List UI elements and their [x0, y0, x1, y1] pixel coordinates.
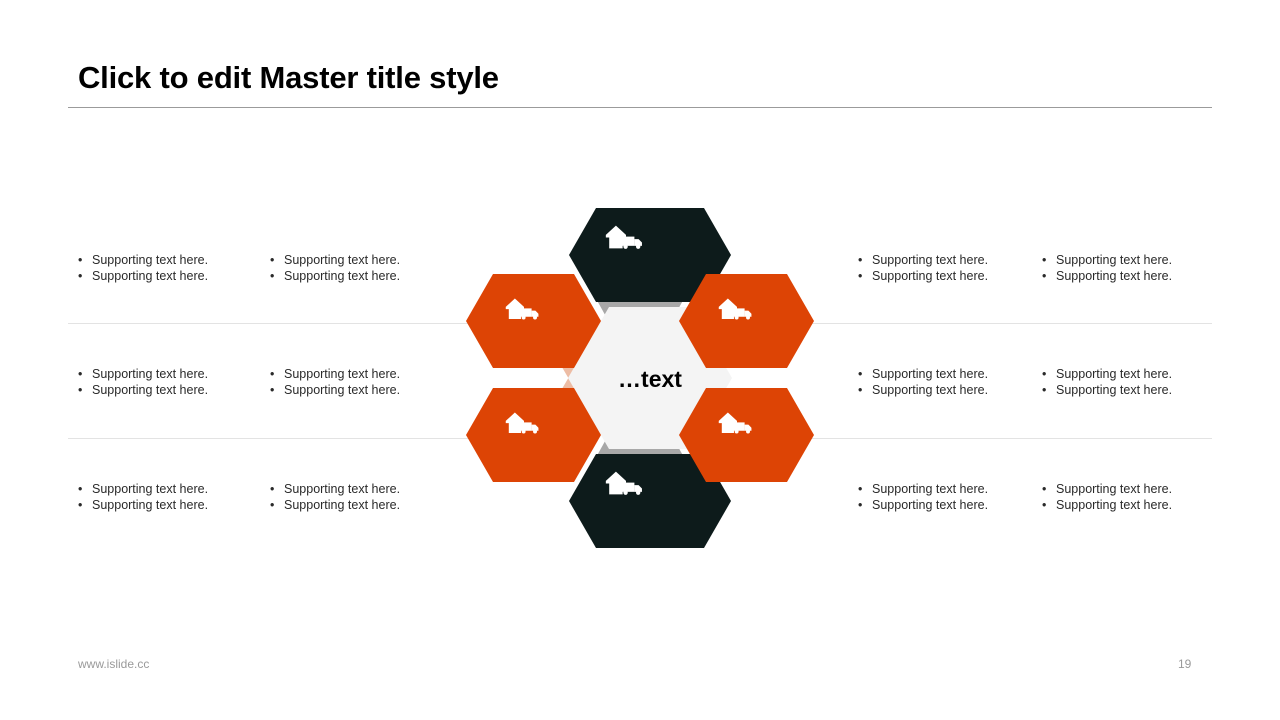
- bullet-marker-icon: •: [858, 383, 872, 399]
- bullet-marker-icon: •: [858, 253, 872, 269]
- page-title: Click to edit Master title style: [78, 60, 499, 96]
- list-item: • Supporting text here.: [858, 383, 1048, 399]
- list-item-label: Supporting text here.: [284, 498, 400, 514]
- row-divider-right-2: [760, 438, 1212, 439]
- bullet-marker-icon: •: [858, 498, 872, 514]
- petal-hexagon-lower-right[interactable]: [679, 388, 814, 482]
- bullet-marker-icon: •: [270, 482, 284, 498]
- page-number: 19: [1178, 657, 1191, 671]
- bullet-marker-icon: •: [270, 269, 284, 285]
- petal-hexagon-upper-left-shape: [466, 274, 601, 368]
- list-item-label: Supporting text here.: [92, 367, 208, 383]
- text-block-left1-row2[interactable]: • Supporting text here. • Supporting tex…: [78, 367, 268, 398]
- list-item-label: Supporting text here.: [1056, 498, 1172, 514]
- text-block-right2-row3[interactable]: • Supporting text here. • Supporting tex…: [1042, 482, 1232, 513]
- list-item: • Supporting text here.: [1042, 269, 1232, 285]
- list-item-label: Supporting text here.: [284, 383, 400, 399]
- bullet-marker-icon: •: [78, 482, 92, 498]
- list-item-label: Supporting text here.: [872, 269, 988, 285]
- list-item: • Supporting text here.: [858, 367, 1048, 383]
- bullet-marker-icon: •: [78, 269, 92, 285]
- bullet-marker-icon: •: [1042, 482, 1056, 498]
- list-item-label: Supporting text here.: [284, 367, 400, 383]
- title-divider: [68, 107, 1212, 108]
- list-item: • Supporting text here.: [858, 269, 1048, 285]
- bullet-marker-icon: •: [858, 269, 872, 285]
- list-item: • Supporting text here.: [1042, 482, 1232, 498]
- list-item: • Supporting text here.: [1042, 383, 1232, 399]
- bullet-marker-icon: •: [270, 367, 284, 383]
- list-item: • Supporting text here.: [78, 367, 268, 383]
- list-item-label: Supporting text here.: [284, 253, 400, 269]
- list-item-label: Supporting text here.: [284, 269, 400, 285]
- list-item-label: Supporting text here.: [872, 367, 988, 383]
- list-item-label: Supporting text here.: [92, 383, 208, 399]
- list-item: • Supporting text here.: [78, 253, 268, 269]
- list-item: • Supporting text here.: [270, 253, 460, 269]
- list-item-label: Supporting text here.: [1056, 482, 1172, 498]
- list-item: • Supporting text here.: [858, 498, 1048, 514]
- petal-hexagon-lower-left-shape: [466, 388, 601, 482]
- bullet-marker-icon: •: [1042, 383, 1056, 399]
- bullet-marker-icon: •: [1042, 367, 1056, 383]
- list-item-label: Supporting text here.: [92, 498, 208, 514]
- list-item: • Supporting text here.: [858, 253, 1048, 269]
- list-item-label: Supporting text here.: [1056, 253, 1172, 269]
- bullet-marker-icon: •: [1042, 253, 1056, 269]
- list-item: • Supporting text here.: [270, 498, 460, 514]
- bullet-marker-icon: •: [270, 253, 284, 269]
- list-item: • Supporting text here.: [270, 383, 460, 399]
- bullet-marker-icon: •: [270, 383, 284, 399]
- footer-url[interactable]: www.islide.cc: [78, 657, 149, 671]
- text-block-right1-row3[interactable]: • Supporting text here. • Supporting tex…: [858, 482, 1048, 513]
- petal-hexagon-lower-left[interactable]: [466, 388, 601, 482]
- list-item: • Supporting text here.: [1042, 498, 1232, 514]
- row-divider-left-1: [68, 323, 520, 324]
- text-block-left2-row3[interactable]: • Supporting text here. • Supporting tex…: [270, 482, 460, 513]
- list-item-label: Supporting text here.: [92, 482, 208, 498]
- list-item: • Supporting text here.: [78, 383, 268, 399]
- list-item-label: Supporting text here.: [1056, 367, 1172, 383]
- list-item: • Supporting text here.: [1042, 253, 1232, 269]
- petal-hexagon-upper-right-shape: [679, 274, 814, 368]
- list-item: • Supporting text here.: [270, 367, 460, 383]
- petal-hexagon-upper-left[interactable]: [466, 274, 601, 368]
- bullet-marker-icon: •: [78, 253, 92, 269]
- text-block-left1-row3[interactable]: • Supporting text here. • Supporting tex…: [78, 482, 268, 513]
- bullet-marker-icon: •: [78, 383, 92, 399]
- list-item-label: Supporting text here.: [284, 482, 400, 498]
- list-item-label: Supporting text here.: [1056, 269, 1172, 285]
- list-item-label: Supporting text here.: [1056, 383, 1172, 399]
- list-item-label: Supporting text here.: [872, 383, 988, 399]
- list-item-label: Supporting text here.: [92, 269, 208, 285]
- list-item-label: Supporting text here.: [872, 482, 988, 498]
- list-item-label: Supporting text here.: [872, 498, 988, 514]
- bullet-marker-icon: •: [270, 498, 284, 514]
- text-block-left1-row1[interactable]: • Supporting text here. • Supporting tex…: [78, 253, 268, 284]
- list-item: • Supporting text here.: [270, 269, 460, 285]
- list-item-label: Supporting text here.: [872, 253, 988, 269]
- text-block-right1-row1[interactable]: • Supporting text here. • Supporting tex…: [858, 253, 1048, 284]
- bullet-marker-icon: •: [1042, 498, 1056, 514]
- list-item: • Supporting text here.: [270, 482, 460, 498]
- list-item: • Supporting text here.: [78, 269, 268, 285]
- list-item: • Supporting text here.: [78, 498, 268, 514]
- bullet-marker-icon: •: [858, 367, 872, 383]
- text-block-left2-row2[interactable]: • Supporting text here. • Supporting tex…: [270, 367, 460, 398]
- text-block-left2-row1[interactable]: • Supporting text here. • Supporting tex…: [270, 253, 460, 284]
- petal-hexagon-lower-right-shape: [679, 388, 814, 482]
- bullet-marker-icon: •: [858, 482, 872, 498]
- row-divider-right-1: [760, 323, 1212, 324]
- petal-hexagon-upper-right[interactable]: [679, 274, 814, 368]
- row-divider-left-2: [68, 438, 520, 439]
- text-block-right2-row2[interactable]: • Supporting text here. • Supporting tex…: [1042, 367, 1232, 398]
- bullet-marker-icon: •: [78, 498, 92, 514]
- list-item: • Supporting text here.: [78, 482, 268, 498]
- text-block-right2-row1[interactable]: • Supporting text here. • Supporting tex…: [1042, 253, 1232, 284]
- list-item: • Supporting text here.: [858, 482, 1048, 498]
- hexagon-cluster-diagram: …text: [455, 198, 825, 558]
- list-item: • Supporting text here.: [1042, 367, 1232, 383]
- text-block-right1-row2[interactable]: • Supporting text here. • Supporting tex…: [858, 367, 1048, 398]
- list-item-label: Supporting text here.: [92, 253, 208, 269]
- center-hexagon-label: …text: [618, 366, 682, 392]
- bullet-marker-icon: •: [1042, 269, 1056, 285]
- bullet-marker-icon: •: [78, 367, 92, 383]
